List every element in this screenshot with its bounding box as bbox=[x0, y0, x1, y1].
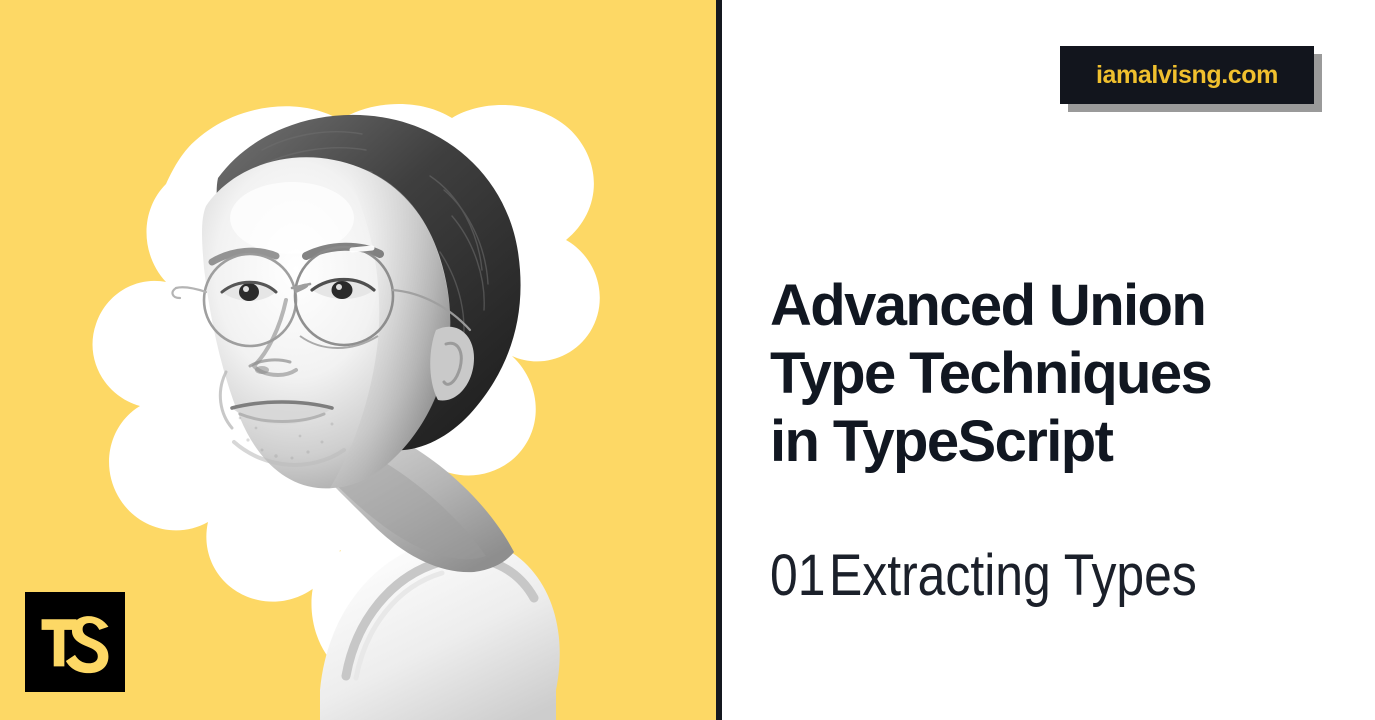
title-line-2: Type Techniques bbox=[770, 340, 1370, 408]
site-badge[interactable]: iamalvisng.com bbox=[1060, 46, 1314, 104]
subtitle-label: Extracting Types bbox=[829, 543, 1197, 609]
site-badge-label: iamalvisng.com bbox=[1096, 61, 1278, 90]
right-content-panel: iamalvisng.com Advanced Union Type Techn… bbox=[722, 0, 1375, 720]
typescript-logo-glyph bbox=[37, 604, 113, 680]
page-title: Advanced Union Type Techniques in TypeSc… bbox=[770, 272, 1370, 476]
page-subtitle: 01 Extracting Types bbox=[770, 543, 1375, 609]
left-yellow-panel bbox=[0, 0, 716, 720]
subtitle-number: 01 bbox=[770, 543, 825, 609]
slide-canvas: iamalvisng.com Advanced Union Type Techn… bbox=[0, 0, 1375, 720]
title-line-1: Advanced Union bbox=[770, 272, 1370, 340]
site-badge-box[interactable]: iamalvisng.com bbox=[1060, 46, 1314, 104]
title-line-3: in TypeScript bbox=[770, 408, 1370, 476]
typescript-logo bbox=[25, 592, 125, 692]
